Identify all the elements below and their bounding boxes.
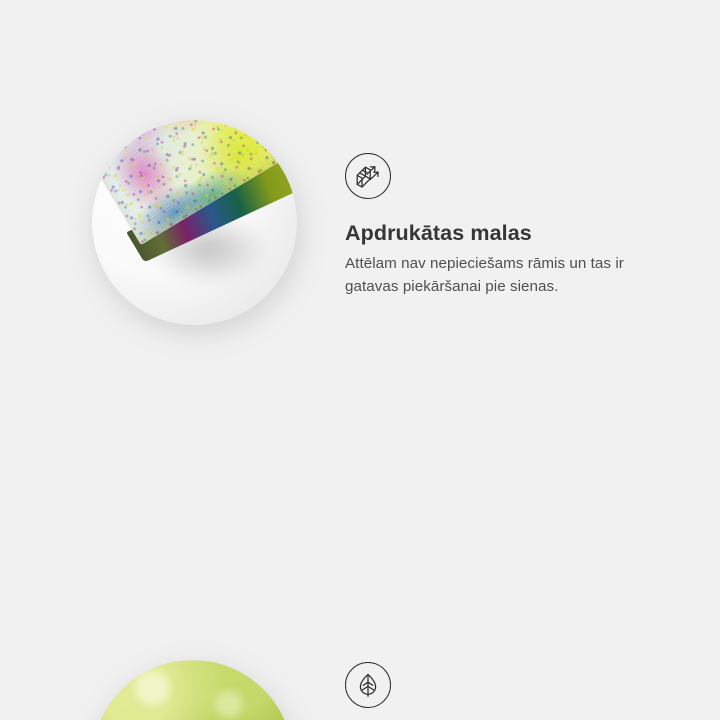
photo-inner [92,660,293,720]
leaf-glyph [354,671,382,699]
leaf-icon [345,662,391,708]
feature-text-eco: EKO produkts Mūsu ražošanas procesā tiek… [345,662,685,720]
feature-block-eco: EKO produkts Mūsu ražošanas procesā tiek… [0,270,720,720]
bokeh-highlights [92,660,293,720]
wrapped-canvas-edge-glyph [354,162,382,190]
feature-title-printed-edges: Apdrukātas malas [345,221,680,246]
wrapped-canvas-edge-icon [345,153,391,199]
wood-chips-in-hands-photo [92,660,293,720]
infographic-page: Apdrukātas malas Attēlam nav nepieciešam… [0,0,720,720]
